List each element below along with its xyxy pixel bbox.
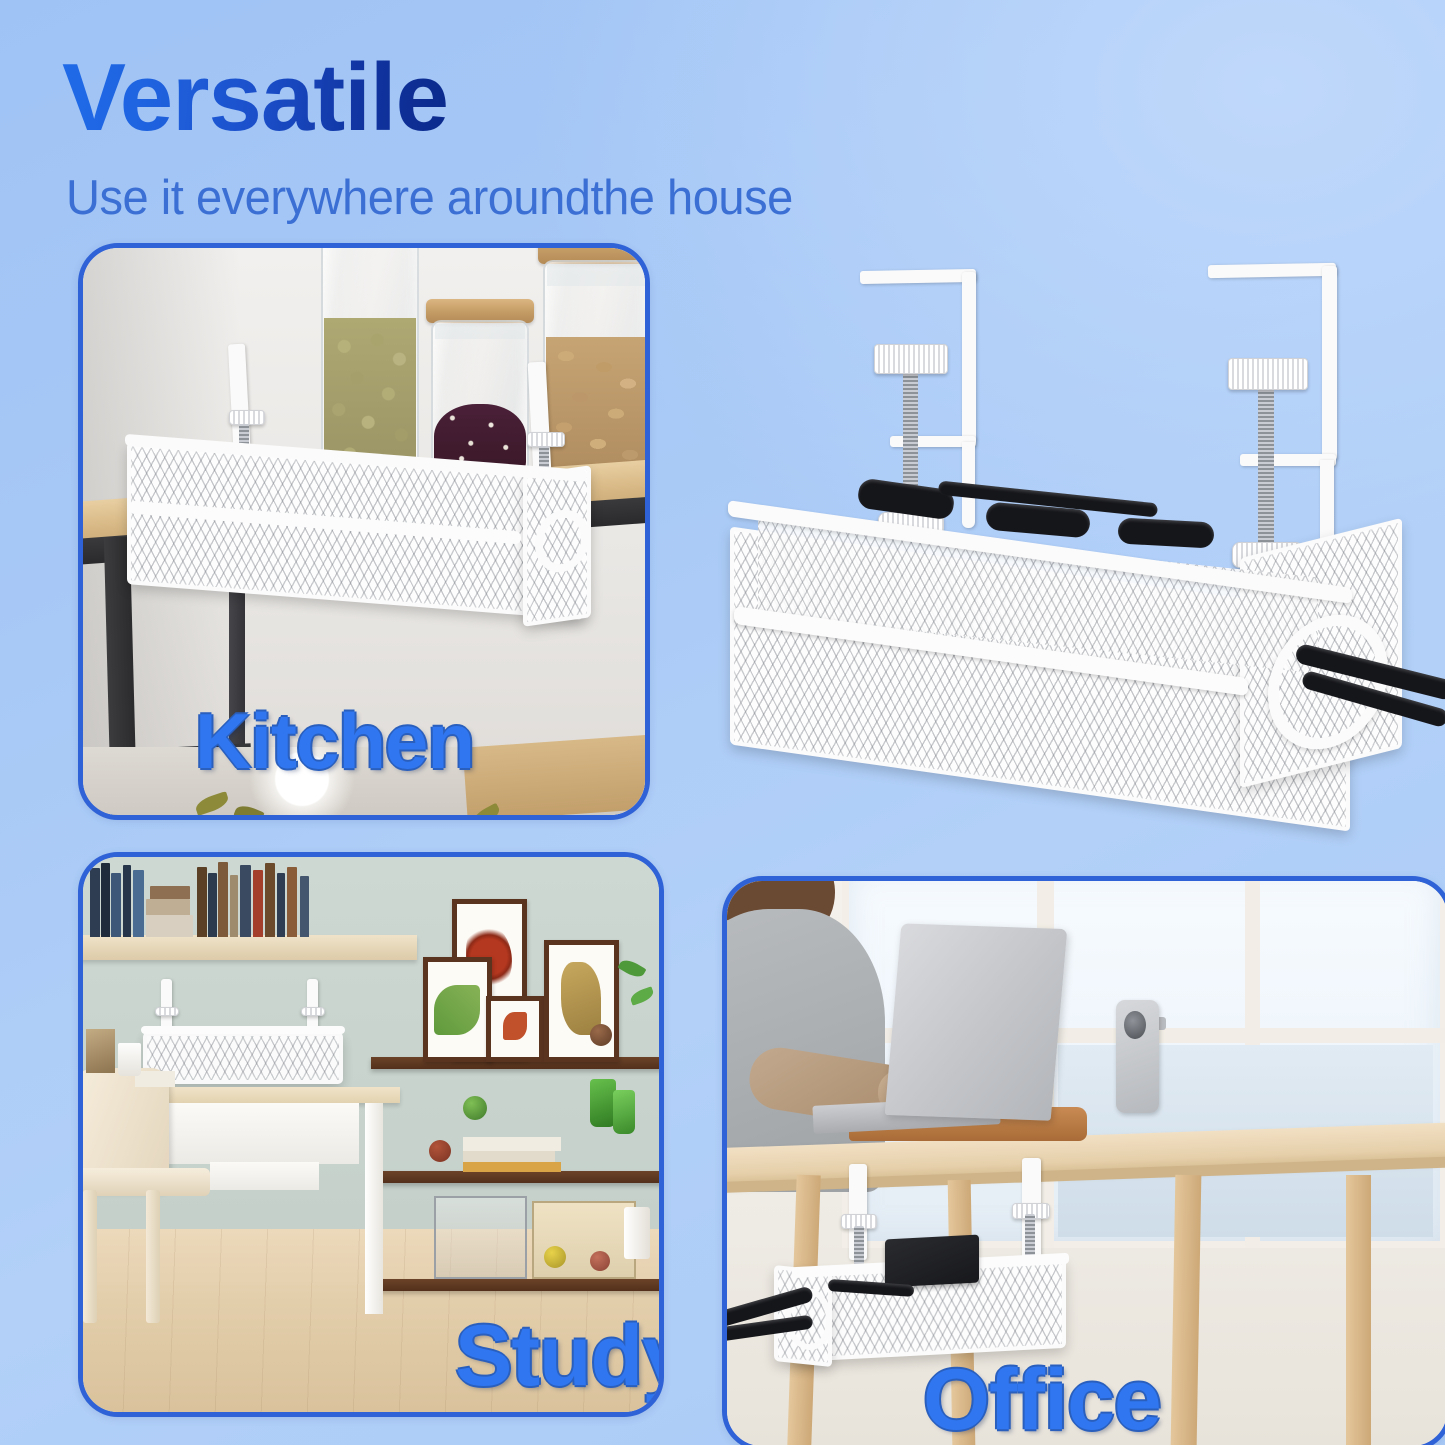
study-wall-ornament bbox=[86, 1029, 115, 1073]
book bbox=[265, 863, 275, 937]
study-books-stack bbox=[463, 1137, 561, 1150]
study-shelf-low-right bbox=[371, 1279, 659, 1291]
art-green-fern bbox=[434, 985, 480, 1035]
jar-glass-body bbox=[431, 320, 529, 478]
office-power-brick bbox=[885, 1234, 979, 1287]
clamp-right-screw bbox=[1258, 386, 1274, 552]
office-desk-leg-right bbox=[1171, 1175, 1202, 1445]
clamp-right-vertical bbox=[1322, 266, 1337, 460]
study-driftwood-box bbox=[434, 1196, 526, 1279]
study-desk-cup bbox=[118, 1043, 141, 1076]
book bbox=[253, 870, 262, 938]
jar-lid-band bbox=[435, 324, 525, 339]
product-feature-poster: Versatile Use it everywhere aroundthe ho… bbox=[0, 0, 1445, 1445]
office-phone-camera bbox=[1124, 1011, 1146, 1039]
study-ball-green bbox=[463, 1096, 487, 1120]
book bbox=[208, 873, 217, 937]
book bbox=[150, 886, 190, 899]
clamp-right-thumb-knob bbox=[1228, 358, 1308, 390]
book bbox=[240, 865, 251, 937]
scene-panel-office[interactable]: Office bbox=[722, 876, 1445, 1445]
study-ball-brown bbox=[590, 1024, 612, 1046]
art-dried-plant bbox=[561, 962, 601, 1034]
study-shelf-mid-right bbox=[371, 1171, 659, 1183]
book bbox=[90, 868, 100, 937]
study-ball-yellow bbox=[544, 1246, 566, 1268]
page-title: Versatile bbox=[62, 50, 448, 146]
study-ball-red bbox=[429, 1140, 451, 1162]
book bbox=[111, 873, 121, 937]
caption-kitchen: Kitchen bbox=[195, 696, 474, 787]
kitchen-lower-shelf bbox=[463, 735, 645, 815]
study-desk-books bbox=[135, 1071, 175, 1088]
clamp-left-vertical bbox=[962, 272, 976, 442]
book bbox=[146, 915, 193, 938]
study-chair-leg-front bbox=[146, 1190, 160, 1323]
study-tray-rim bbox=[141, 1026, 345, 1034]
scene-panel-study[interactable]: Study bbox=[78, 852, 664, 1417]
book bbox=[218, 862, 228, 938]
caption-office: Office bbox=[923, 1351, 1161, 1445]
book bbox=[277, 873, 286, 937]
caption-study: Study bbox=[455, 1307, 664, 1406]
study-desk-top bbox=[152, 1087, 400, 1103]
book bbox=[146, 899, 189, 915]
study-desk-leg bbox=[365, 1103, 382, 1314]
book bbox=[133, 870, 144, 938]
book bbox=[230, 875, 238, 938]
study-green-vase-2 bbox=[613, 1090, 635, 1134]
page-subtitle: Use it everywhere aroundthe house bbox=[66, 170, 793, 226]
study-pressed-flower-art bbox=[532, 1201, 636, 1279]
glass-jar-green-peas bbox=[321, 248, 419, 480]
study-white-cylinder bbox=[624, 1207, 650, 1259]
kitchen-clamp-right-knob bbox=[527, 432, 565, 447]
power-plug-head-3 bbox=[1117, 518, 1214, 549]
book bbox=[287, 867, 298, 938]
art-small-leaf bbox=[503, 1012, 526, 1040]
scene-panel-kitchen[interactable]: Kitchen bbox=[78, 243, 650, 820]
office-desk-leg-far-right bbox=[1346, 1175, 1370, 1445]
book bbox=[123, 865, 131, 937]
clamp-left-top-arm bbox=[860, 269, 976, 284]
clamp-left-thumb-knob bbox=[874, 344, 948, 374]
study-green-vase-1 bbox=[590, 1079, 616, 1127]
study-clamp-right-knob bbox=[301, 1007, 325, 1016]
office-laptop-lid bbox=[884, 924, 1066, 1121]
jar-glass-body bbox=[321, 248, 419, 480]
glass-jar-black-beans bbox=[431, 320, 529, 478]
jar-contents-oats bbox=[546, 337, 645, 474]
product-hero-image bbox=[700, 248, 1440, 818]
study-clamp-right bbox=[307, 979, 318, 1029]
study-desk-front-panel bbox=[158, 1103, 360, 1164]
study-upper-shelf bbox=[83, 935, 417, 960]
study-books-stack-3 bbox=[463, 1162, 561, 1172]
book bbox=[300, 876, 309, 937]
book bbox=[197, 867, 207, 938]
study-clamp-left bbox=[161, 979, 172, 1029]
jar-lid-band bbox=[547, 264, 645, 285]
study-books-row bbox=[83, 857, 417, 937]
clamp-right-top-arm bbox=[1208, 263, 1336, 278]
kitchen-clamp-left-knob bbox=[229, 410, 265, 425]
study-desk-modesty-panel bbox=[210, 1162, 319, 1190]
book bbox=[101, 863, 110, 937]
study-chair-leg-back bbox=[83, 1190, 97, 1323]
study-clamp-left-knob bbox=[155, 1007, 179, 1016]
study-ball-pink bbox=[590, 1251, 610, 1271]
